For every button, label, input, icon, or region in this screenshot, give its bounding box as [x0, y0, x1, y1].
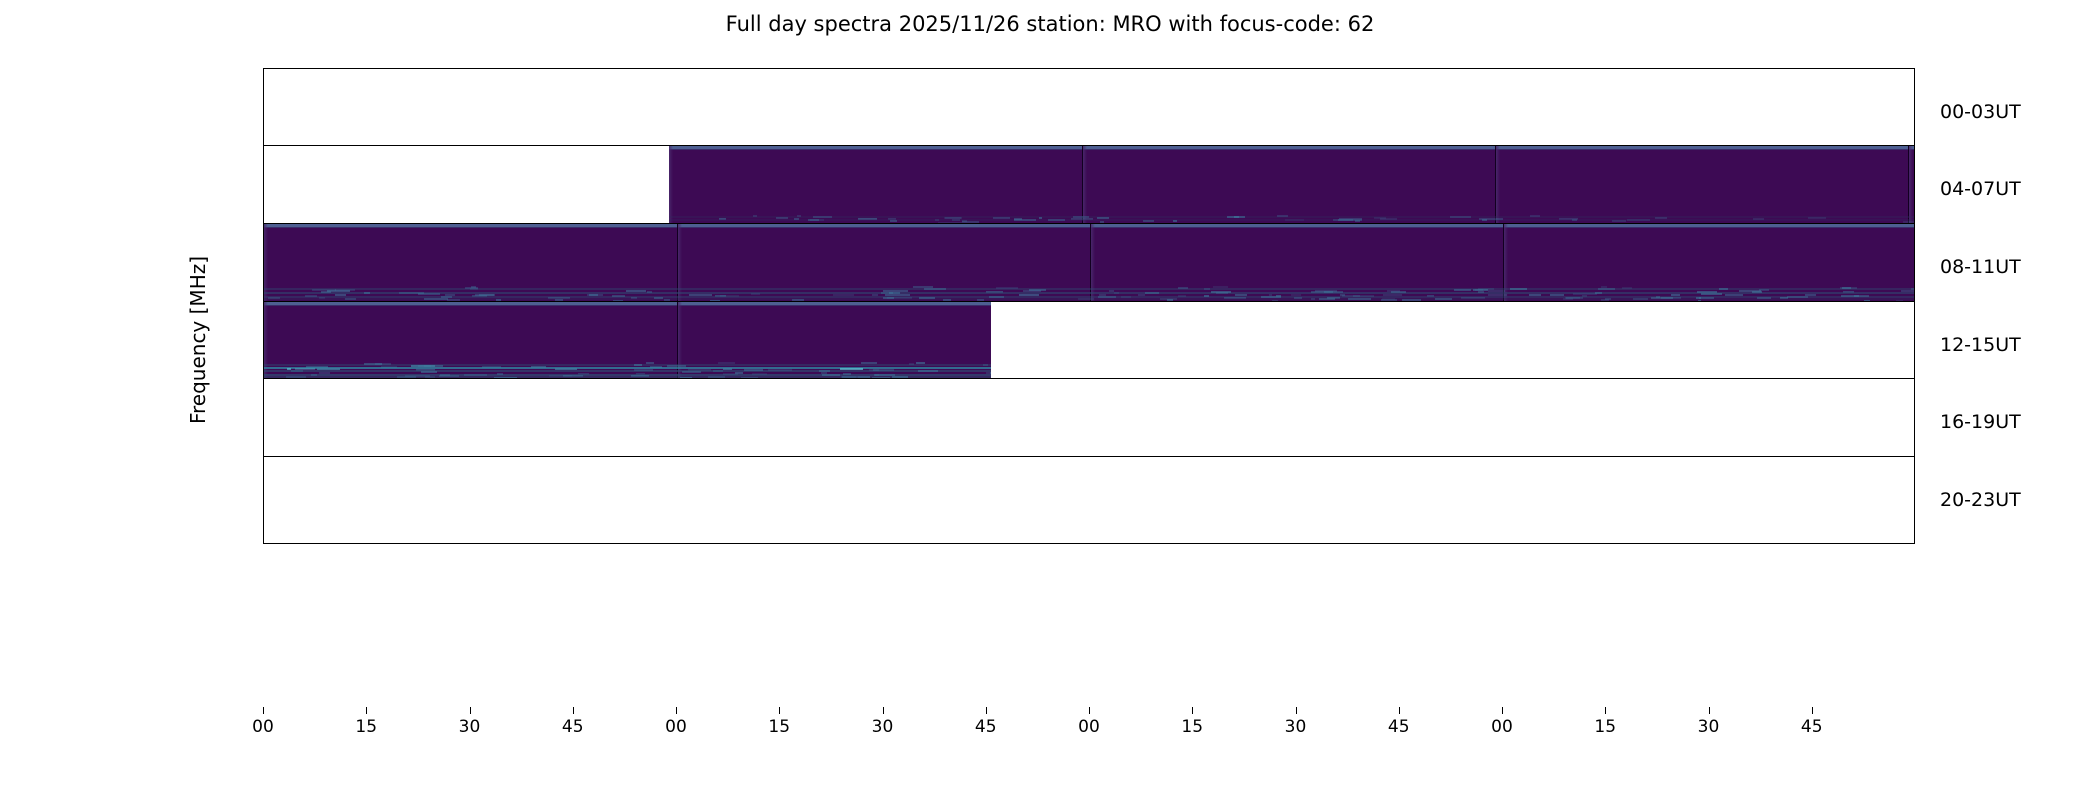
- x-tick: [986, 707, 987, 714]
- x-tick-label: 00: [243, 717, 283, 737]
- rfi-speckle: [1039, 217, 1042, 219]
- band-edge-stripe-secondary: [1091, 227, 1503, 229]
- x-tick: [263, 707, 264, 714]
- rfi-speckle: [1178, 295, 1185, 297]
- y-tick: [263, 241, 264, 242]
- rfi-speckle: [1627, 219, 1650, 221]
- rfi-speckle: [1725, 294, 1743, 296]
- rfi-speckle: [1340, 294, 1346, 296]
- x-tick: [1502, 707, 1503, 714]
- y-tick-right: [1914, 218, 1915, 219]
- rfi-speckle: [1529, 294, 1541, 296]
- y-tick-right: [1914, 190, 1915, 191]
- y-tick-right: [1914, 423, 1915, 424]
- x-tick: [573, 707, 574, 714]
- rfi-speckle: [1901, 290, 1914, 292]
- rfi-speckle: [909, 363, 914, 365]
- x-tick-label: 30: [450, 717, 490, 737]
- row-label-16-19ut: 16-19UT: [1940, 411, 2021, 433]
- band-edge-stripe-secondary: [669, 149, 1082, 151]
- rfi-speckle: [1510, 288, 1527, 290]
- rfi-speckle: [945, 217, 962, 219]
- y-tick: [263, 451, 264, 452]
- rfi-speckle: [1701, 293, 1722, 295]
- y-tick: [263, 86, 264, 87]
- x-tick-label: 30: [1689, 717, 1729, 737]
- rfi-speckle: [268, 297, 280, 299]
- rfi-speckle: [312, 289, 336, 291]
- x-tick: [1605, 707, 1606, 714]
- x-tick-label: 15: [1172, 717, 1212, 737]
- rfi-speckle: [1261, 296, 1281, 298]
- rfi-speckle: [1840, 287, 1857, 289]
- rfi-speckle: [1478, 291, 1485, 293]
- spectra-data-12-15ut: [264, 302, 991, 388]
- rfi-speckle: [1655, 217, 1667, 219]
- rfi-speckle: [1651, 297, 1673, 299]
- rfi-streak: [264, 288, 1915, 290]
- y-tick-right: [1914, 296, 1915, 297]
- rfi-speckle: [1014, 218, 1022, 220]
- rfi-speckle: [924, 288, 946, 290]
- rfi-streak: [264, 292, 1915, 294]
- y-tick: [263, 190, 264, 191]
- rfi-speckle: [479, 294, 494, 296]
- y-tick-right: [1914, 529, 1915, 530]
- rfi-speckle: [1235, 294, 1247, 296]
- rfi-speckle: [1143, 220, 1153, 222]
- rfi-speckle: [439, 375, 459, 377]
- row-label-08-11ut: 08-11UT: [1940, 256, 2021, 278]
- rfi-speckle: [990, 372, 991, 374]
- rfi-speckle: [1752, 291, 1762, 293]
- y-tick: [263, 346, 264, 347]
- x-tick-label: 45: [966, 717, 1006, 737]
- rfi-speckle: [1805, 294, 1816, 296]
- row-label-20-23ut: 20-23UT: [1940, 489, 2021, 511]
- rfi-speckle: [751, 293, 760, 295]
- spectra-panel-04-07ut[interactable]: 755025: [263, 145, 1915, 233]
- x-tick: [1296, 707, 1297, 714]
- rfi-speckle: [1014, 219, 1036, 221]
- x-tick-label: 30: [1276, 717, 1316, 737]
- rfi-speckle: [1048, 219, 1065, 221]
- rfi-speckle: [1530, 215, 1540, 217]
- x-tick-label: 00: [1482, 717, 1522, 737]
- x-axis: 00153045001530450015304500153045: [263, 707, 1915, 747]
- y-tick-right: [1914, 268, 1915, 269]
- x-tick-label: 15: [346, 717, 386, 737]
- rfi-speckle: [335, 289, 356, 291]
- rfi-speckle: [1598, 288, 1615, 290]
- y-tick: [263, 319, 264, 320]
- spectra-panel-20-23ut[interactable]: 755025: [263, 456, 1915, 544]
- band-edge-stripe-secondary: [264, 227, 677, 229]
- rfi-speckle: [411, 365, 435, 367]
- rfi-speckle: [1478, 288, 1493, 290]
- spectra-panel-16-19ut[interactable]: 755025: [263, 378, 1915, 466]
- rfi-speckle: [1204, 288, 1210, 290]
- rfi-speckle: [531, 366, 546, 368]
- x-tick-label: 30: [863, 717, 903, 737]
- x-tick: [366, 707, 367, 714]
- y-tick-right: [1914, 241, 1915, 242]
- rfi-speckle: [1348, 298, 1371, 300]
- rfi-speckle: [873, 369, 895, 371]
- rfi-speckle: [718, 362, 735, 364]
- y-tick-right: [1914, 163, 1915, 164]
- rfi-speckle: [1213, 286, 1227, 288]
- x-tick-label: 15: [1585, 717, 1625, 737]
- rfi-speckle: [311, 374, 317, 376]
- y-tick: [263, 423, 264, 424]
- band-edge-stripe-secondary: [1083, 149, 1495, 151]
- rfi-speckle: [1622, 287, 1632, 289]
- rfi-speckle: [989, 296, 1003, 298]
- y-tick-right: [1914, 86, 1915, 87]
- x-tick: [470, 707, 471, 714]
- rfi-speckle: [634, 369, 652, 371]
- y-tick-right: [1914, 374, 1915, 375]
- rfi-speckle: [1753, 218, 1763, 220]
- y-tick-right: [1914, 141, 1915, 142]
- rfi-speckle: [918, 370, 938, 372]
- y-tick: [263, 141, 264, 142]
- x-tick: [1812, 707, 1813, 714]
- rfi-speckle: [465, 287, 479, 289]
- y-axis-label: Frequency [MHz]: [186, 180, 216, 500]
- y-tick: [263, 268, 264, 269]
- rfi-streak: [669, 219, 1915, 221]
- rfi-speckle: [1612, 220, 1626, 222]
- rfi-speckle: [1173, 220, 1178, 222]
- rfi-speckle: [1380, 218, 1398, 220]
- figure-title: Full day spectra 2025/11/26 station: MRO…: [0, 12, 2100, 36]
- rfi-speckle: [654, 297, 663, 299]
- rfi-speckle: [794, 218, 799, 220]
- x-tick-label: 45: [553, 717, 593, 737]
- rfi-speckle: [1601, 286, 1607, 288]
- rfi-speckle: [1294, 297, 1302, 299]
- y-tick: [263, 218, 264, 219]
- rfi-speckle: [1696, 297, 1701, 299]
- rfi-speckle: [399, 292, 424, 294]
- rfi-speckle: [1383, 294, 1402, 296]
- rfi-speckle: [634, 364, 641, 366]
- rfi-speckle: [1160, 298, 1177, 300]
- rfi-speckle: [919, 297, 936, 299]
- rfi-speckle: [996, 287, 1018, 289]
- rfi-speckle: [1719, 288, 1728, 290]
- rfi-speckle: [1145, 292, 1160, 294]
- rfi-speckle: [1277, 215, 1288, 217]
- rfi-speckle: [321, 291, 331, 293]
- rfi-speckle: [1178, 287, 1188, 289]
- rfi-speckle: [913, 286, 933, 288]
- x-tick: [1399, 707, 1400, 714]
- y-tick: [263, 113, 264, 114]
- band-edge-stripe-secondary: [678, 305, 991, 307]
- rfi-speckle: [364, 292, 370, 294]
- rfi-speckle: [768, 369, 792, 371]
- rfi-speckle: [843, 373, 851, 375]
- rfi-speckle: [1333, 219, 1353, 221]
- spectrogram-figure: Full day spectra 2025/11/26 station: MRO…: [0, 0, 2100, 800]
- rfi-speckle: [744, 369, 763, 371]
- row-label-00-03ut: 00-03UT: [1940, 101, 2021, 123]
- x-tick: [1709, 707, 1710, 714]
- y-tick: [263, 296, 264, 297]
- row-label-12-15ut: 12-15UT: [1940, 334, 2021, 356]
- rfi-speckle: [1355, 220, 1361, 222]
- rfi-speckle: [1482, 219, 1487, 221]
- x-tick: [676, 707, 677, 714]
- spectra-data-04-07ut: [669, 146, 1915, 232]
- rfi-speckle: [646, 362, 654, 364]
- spectra-data-08-11ut: [264, 224, 1915, 310]
- y-tick: [263, 474, 264, 475]
- y-tick: [263, 163, 264, 164]
- spectra-panel-12-15ut[interactable]: 755025: [263, 301, 1915, 389]
- y-tick-right: [1914, 396, 1915, 397]
- rfi-speckle: [589, 294, 598, 296]
- rfi-speckle: [445, 294, 455, 296]
- rfi-speckle: [1387, 290, 1399, 292]
- rfi-speckle: [497, 373, 504, 375]
- spectra-panel-08-11ut[interactable]: 755025: [263, 223, 1915, 311]
- y-tick-right: [1914, 346, 1915, 347]
- rfi-speckle: [1550, 294, 1564, 296]
- rfi-speckle: [889, 292, 900, 294]
- rfi-speckle: [1757, 297, 1771, 299]
- row-label-04-07ut: 04-07UT: [1940, 178, 2021, 200]
- y-tick-right: [1914, 113, 1915, 114]
- band-edge-stripe-secondary: [1504, 227, 1915, 229]
- y-tick: [263, 529, 264, 530]
- rfi-speckle: [1319, 298, 1335, 300]
- x-tick: [779, 707, 780, 714]
- rfi-speckle: [647, 291, 652, 293]
- rfi-speckle: [861, 362, 877, 364]
- rfi-speckle: [753, 215, 757, 217]
- rfi-speckle: [821, 372, 827, 374]
- rfi-speckle: [813, 216, 832, 218]
- y-tick-right: [1914, 451, 1915, 452]
- y-tick-right: [1914, 474, 1915, 475]
- rfi-speckle: [689, 294, 712, 296]
- x-tick-label: 00: [656, 717, 696, 737]
- y-tick-right: [1914, 501, 1915, 502]
- rfi-speckle: [1138, 294, 1144, 296]
- x-tick-label: 45: [1792, 717, 1832, 737]
- rfi-speckle: [890, 220, 897, 222]
- rfi-speckle: [1114, 292, 1119, 294]
- rfi-speckle: [364, 363, 382, 365]
- x-tick: [1089, 707, 1090, 714]
- rfi-speckle: [626, 290, 646, 292]
- rfi-speckle: [319, 372, 330, 374]
- x-tick-label: 00: [1069, 717, 1109, 737]
- rfi-speckle: [1324, 291, 1344, 293]
- rfi-speckle: [1216, 292, 1228, 294]
- band-edge-stripe-secondary: [264, 305, 677, 307]
- x-tick: [883, 707, 884, 714]
- x-tick-label: 45: [1379, 717, 1419, 737]
- y-tick: [263, 396, 264, 397]
- band-edge-stripe-secondary: [1496, 149, 1908, 151]
- x-tick-label: 15: [759, 717, 799, 737]
- x-tick: [1192, 707, 1193, 714]
- rfi-speckle: [916, 362, 925, 364]
- rfi-speckle: [883, 297, 894, 299]
- spectra-panel-00-03ut[interactable]: 755025: [263, 68, 1915, 156]
- y-tick: [263, 374, 264, 375]
- band-edge-stripe-secondary: [678, 227, 1090, 229]
- y-tick-right: [1914, 319, 1915, 320]
- rfi-speckle: [1435, 298, 1452, 300]
- rfi-speckle: [424, 298, 448, 300]
- rfi-speckle: [1098, 296, 1116, 298]
- rfi-speckle: [874, 374, 895, 376]
- rfi-speckle: [1454, 289, 1471, 291]
- y-tick: [263, 501, 264, 502]
